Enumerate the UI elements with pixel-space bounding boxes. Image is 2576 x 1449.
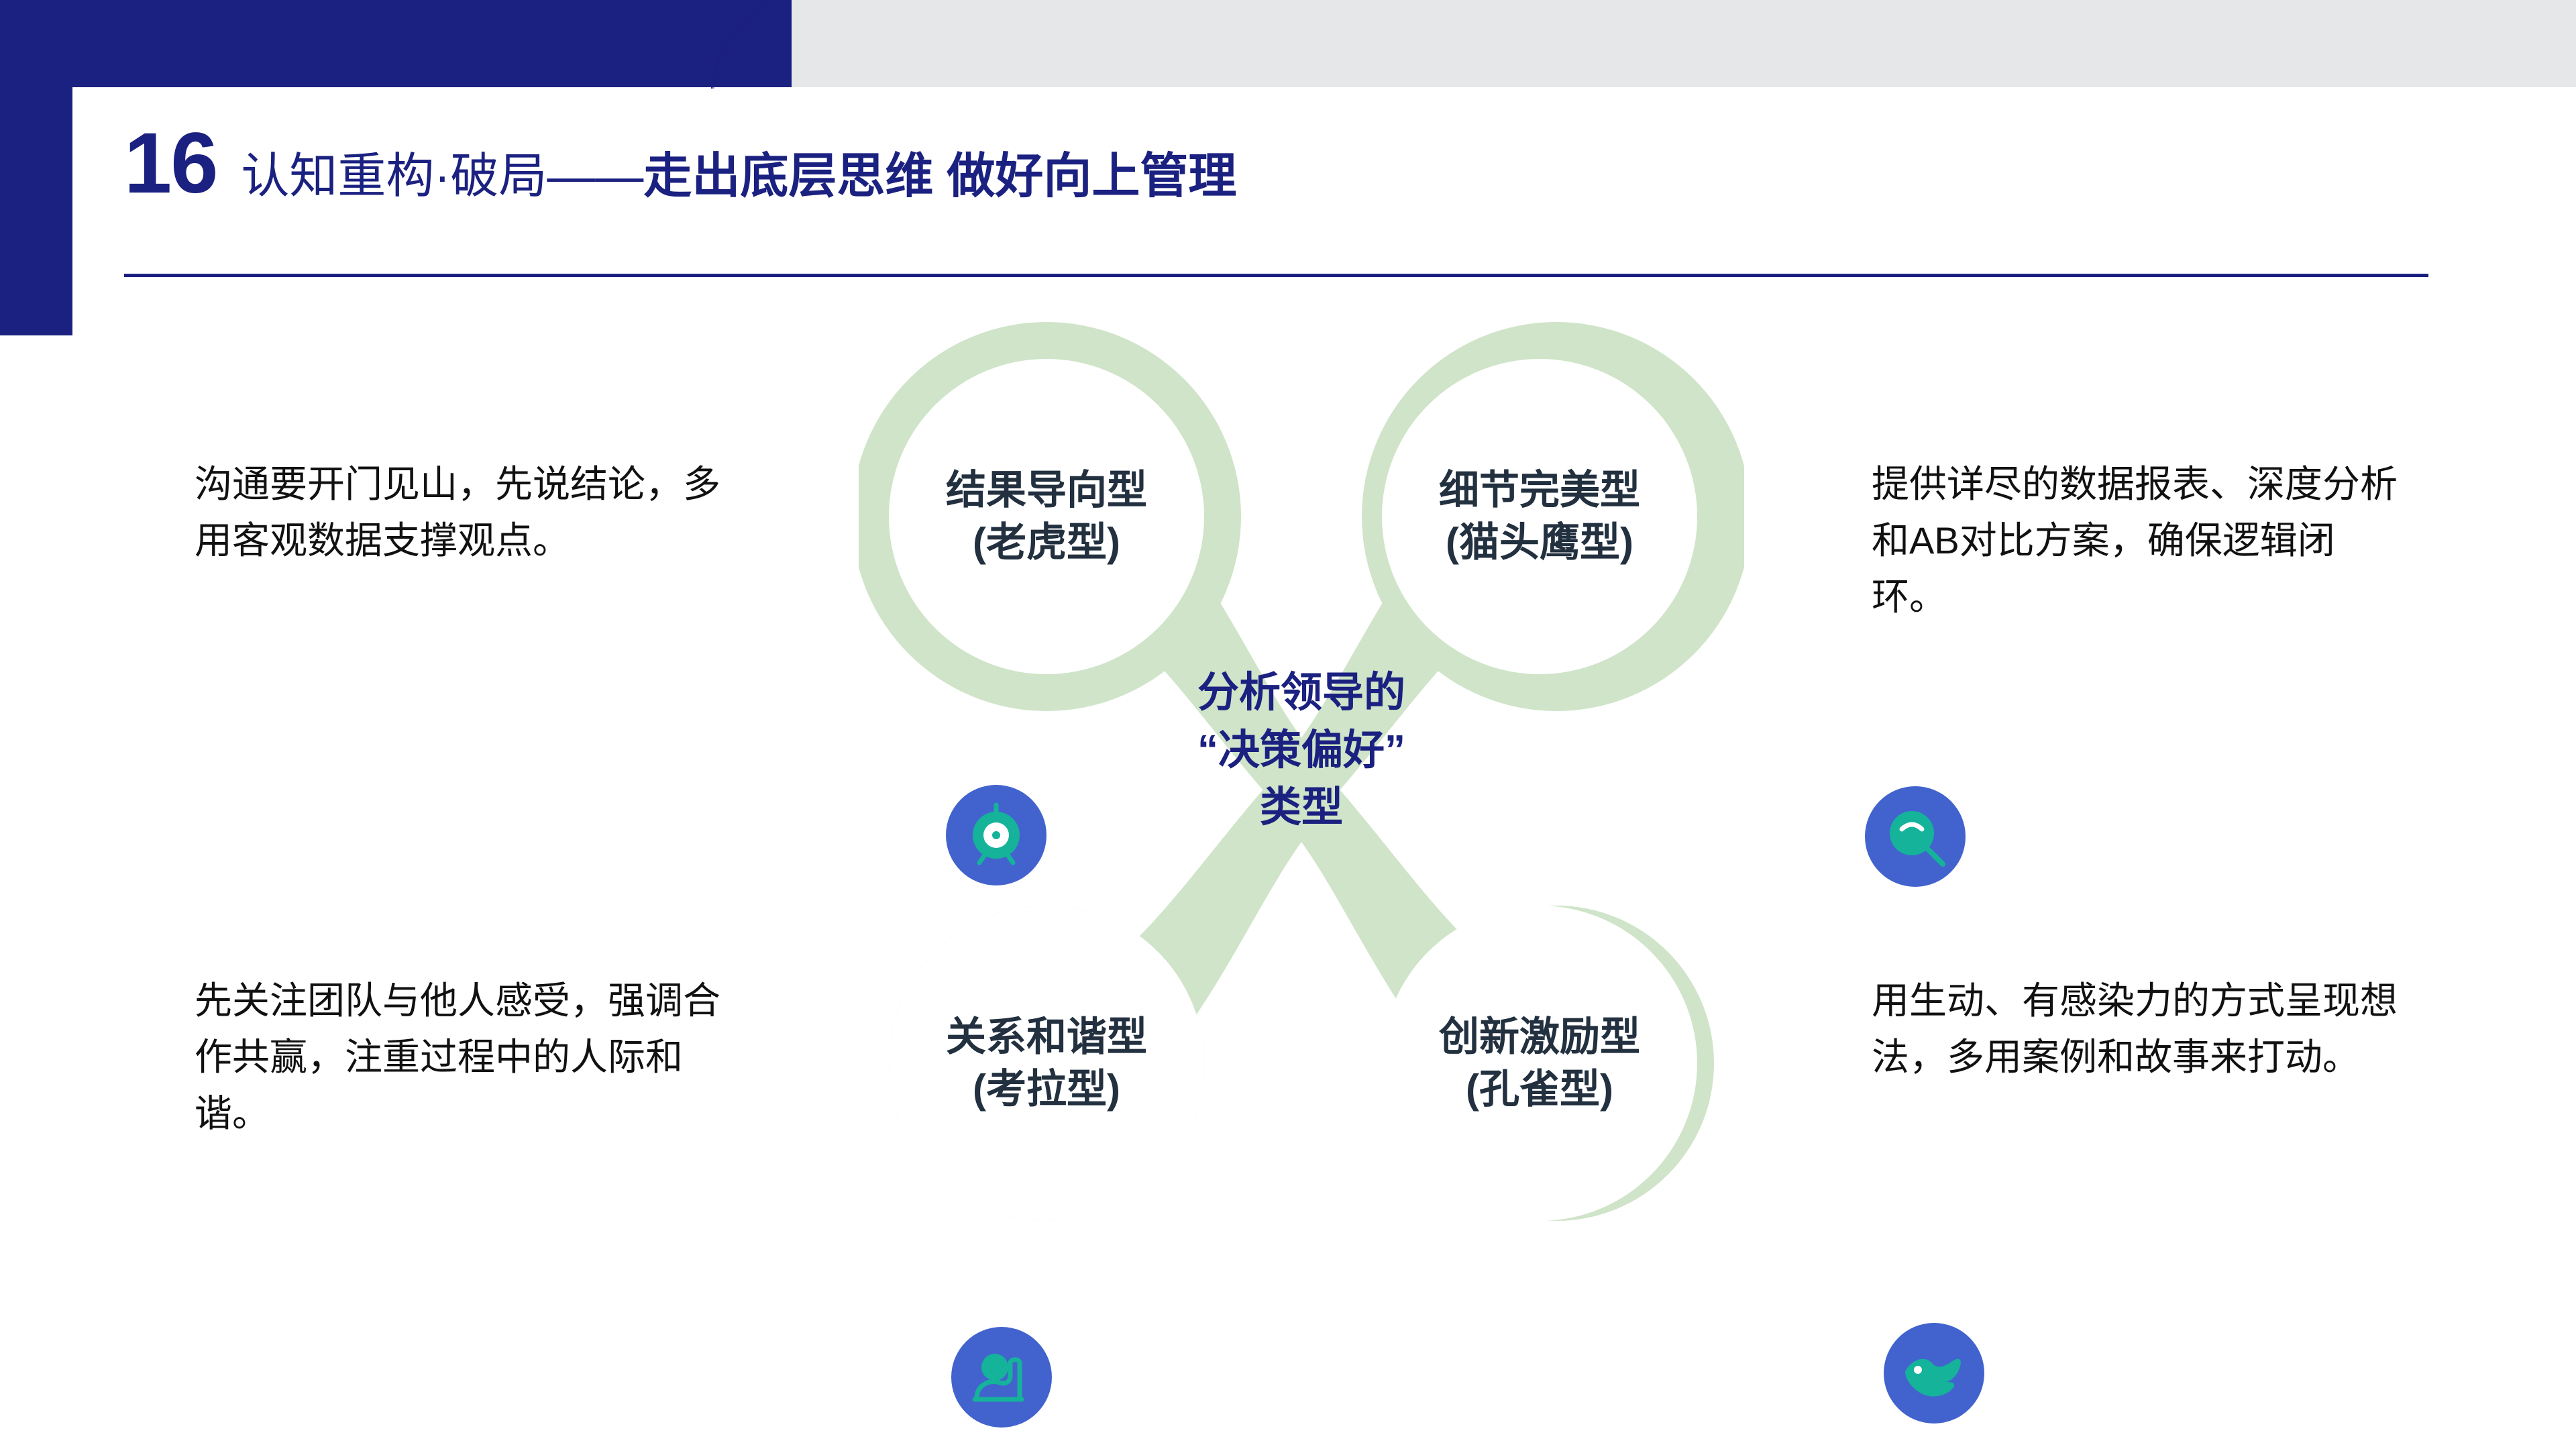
target-icon-badge[interactable] xyxy=(946,785,1046,885)
quadrant-title-top-right: 细节完美型 xyxy=(1439,464,1640,517)
quadrant-title-top-left: 结果导向型 xyxy=(946,464,1147,517)
description-top-left: 沟通要开门见山，先说结论，多用客观数据支撑观点。 xyxy=(195,456,751,569)
description-bottom-left: 先关注团队与他人感受，强调合作共赢，注重过程中的人际和谐。 xyxy=(195,973,751,1142)
magnifier-icon-badge[interactable] xyxy=(1865,786,1966,887)
title-underline xyxy=(124,274,2428,277)
navy-top-band xyxy=(0,0,792,87)
quadrant-circle-top-right[interactable]: 细节完美型 (猫头鹰型) xyxy=(1382,359,1697,674)
slide-canvas: 16 认知重构·破局—— 走出底层思维 做好向上管理 xyxy=(0,0,2576,1449)
center-line-2: “决策偏好” xyxy=(1120,722,1483,780)
center-line-1: 分析领导的 xyxy=(1120,664,1483,722)
bird-icon xyxy=(1897,1336,1971,1410)
quadrant-subtitle-bottom-right: (孔雀型) xyxy=(1466,1063,1613,1116)
slide-header: 16 认知重构·破局—— 走出底层思维 做好向上管理 xyxy=(124,121,2418,207)
description-bottom-right: 用生动、有感染力的方式呈现想法，多用案例和故事来打动。 xyxy=(1872,973,2408,1085)
quadrant-subtitle-top-left: (老虎型) xyxy=(973,517,1120,569)
center-line-3: 类型 xyxy=(1120,779,1483,837)
page-title-light: 认知重构·破局—— xyxy=(241,152,643,201)
quadrant-subtitle-bottom-left: (考拉型) xyxy=(973,1063,1120,1116)
person-icon xyxy=(965,1340,1038,1414)
person-icon-badge[interactable] xyxy=(951,1327,1052,1428)
description-top-right: 提供详尽的数据报表、深度分析和AB对比方案，确保逻辑闭环。 xyxy=(1872,456,2408,625)
center-label: 分析领导的 “决策偏好” 类型 xyxy=(1120,664,1483,837)
target-icon xyxy=(959,798,1033,872)
magnifier-icon xyxy=(1878,800,1952,873)
quadrant-circle-bottom-right[interactable]: 创新激励型 (孔雀型) xyxy=(1382,906,1697,1221)
navy-left-band xyxy=(0,0,72,335)
page-title-bold: 走出底层思维 做好向上管理 xyxy=(643,152,1236,201)
quadrant-circle-top-left[interactable]: 结果导向型 (老虎型) xyxy=(889,359,1204,674)
quadrant-title-bottom-right: 创新激励型 xyxy=(1439,1011,1640,1063)
title-row: 16 认知重构·破局—— 走出底层思维 做好向上管理 xyxy=(124,121,2418,207)
quadrant-circle-bottom-left[interactable]: 关系和谐型 (考拉型) xyxy=(889,906,1204,1221)
quadrant-subtitle-top-right: (猫头鹰型) xyxy=(1446,517,1633,569)
bird-icon-badge[interactable] xyxy=(1884,1323,1984,1424)
quadrant-title-bottom-left: 关系和谐型 xyxy=(946,1011,1147,1063)
slide-number: 16 xyxy=(124,121,217,207)
